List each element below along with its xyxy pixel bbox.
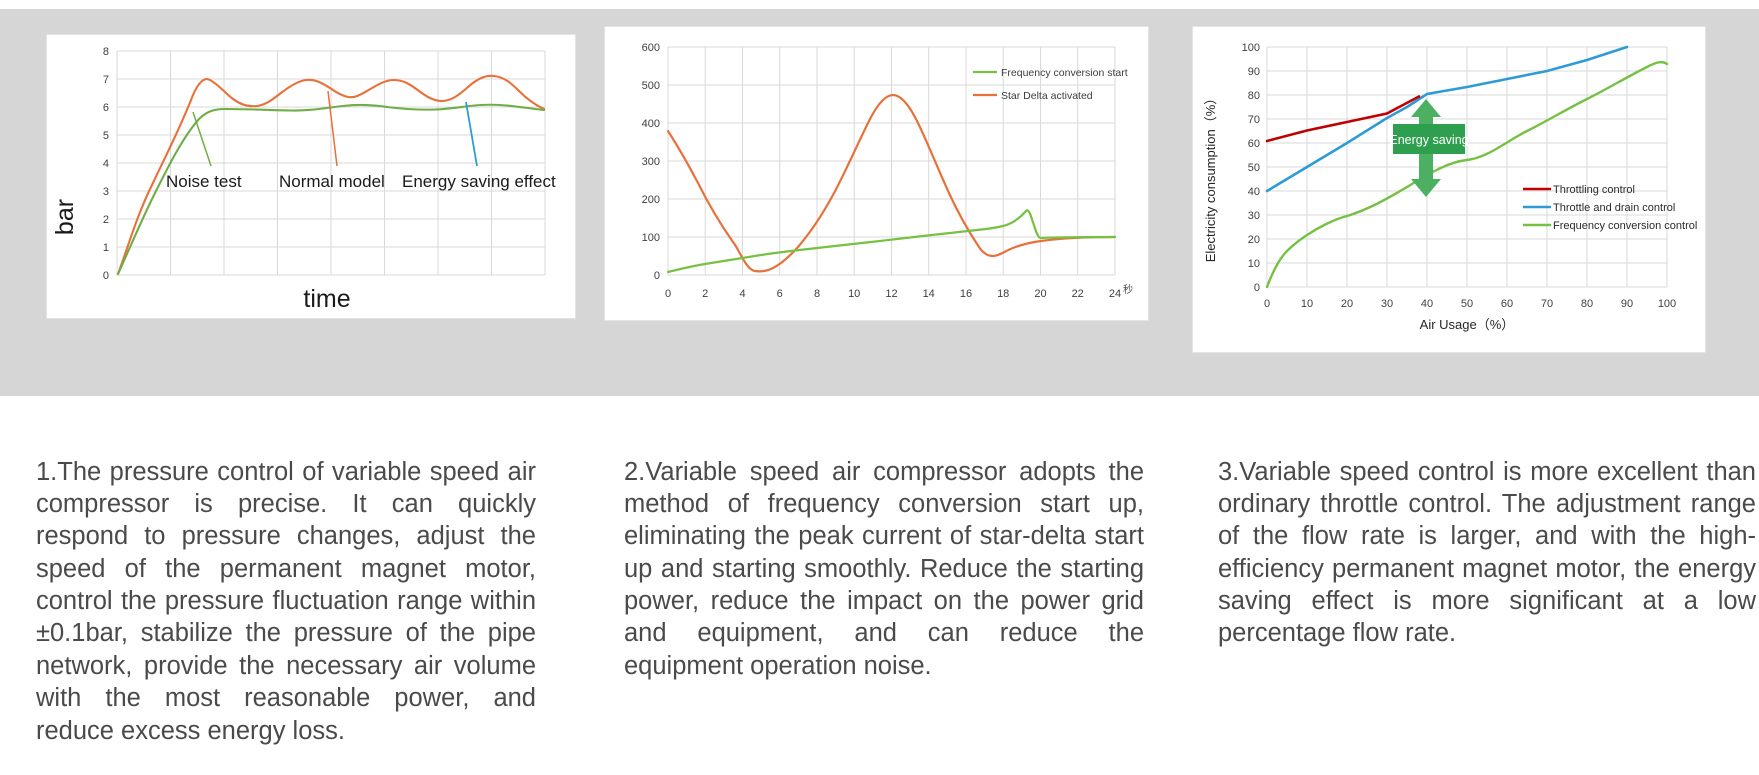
svg-text:4: 4	[103, 158, 109, 170]
svg-text:100: 100	[642, 232, 660, 244]
svg-text:6: 6	[777, 288, 783, 300]
page-root: 8 7 6 5 4 3 2 1 0 Nois	[0, 0, 1759, 775]
legend-label-frequency-conversion-control: Frequency conversion control	[1553, 220, 1697, 232]
legend-label-frequency-conversion-start: Frequency conversion start	[1001, 67, 1128, 79]
svg-text:24: 24	[1109, 288, 1121, 300]
svg-text:2: 2	[702, 288, 708, 300]
legend-label-throttling-control: Throttling control	[1553, 184, 1635, 196]
svg-text:2: 2	[103, 214, 109, 226]
y-axis-tick-labels: 600 500 400 300 200 100 0	[642, 42, 660, 282]
svg-text:90: 90	[1248, 66, 1260, 78]
leader-line-normal-model	[328, 91, 337, 166]
svg-text:4: 4	[739, 288, 745, 300]
svg-text:500: 500	[642, 80, 660, 92]
svg-text:200: 200	[642, 194, 660, 206]
svg-text:90: 90	[1621, 298, 1633, 310]
x-axis-title: Air Usage（%）	[1420, 317, 1515, 332]
svg-text:0: 0	[103, 270, 109, 282]
svg-text:60: 60	[1501, 298, 1513, 310]
annotation-energy-saving-effect: Energy saving effect	[402, 172, 556, 191]
leader-line-noise-test	[193, 112, 211, 166]
svg-text:30: 30	[1381, 298, 1393, 310]
svg-text:80: 80	[1581, 298, 1593, 310]
y-axis-title: bar	[51, 199, 79, 235]
svg-text:1: 1	[103, 242, 109, 254]
svg-text:50: 50	[1248, 162, 1260, 174]
startup-current-chart-card: 600 500 400 300 200 100 0 0 2 4 6 8 10 1…	[604, 26, 1149, 321]
startup-current-chart: 600 500 400 300 200 100 0 0 2 4 6 8 10 1…	[605, 27, 1148, 320]
y-axis-tick-labels: 8 7 6 5 4 3 2 1 0	[103, 46, 109, 282]
svg-text:70: 70	[1248, 114, 1260, 126]
leader-line-energy-saving-effect	[466, 102, 477, 166]
svg-text:20: 20	[1248, 234, 1260, 246]
svg-text:30: 30	[1248, 210, 1260, 222]
pressure-control-chart-card: 8 7 6 5 4 3 2 1 0 Nois	[46, 34, 576, 319]
pressure-control-chart: 8 7 6 5 4 3 2 1 0 Nois	[47, 35, 575, 318]
svg-text:10: 10	[848, 288, 860, 300]
paragraph-2: 2.Variable speed air compressor adopts t…	[624, 456, 1144, 683]
svg-text:20: 20	[1034, 288, 1046, 300]
svg-text:600: 600	[642, 42, 660, 54]
paragraph-3: 3.Variable speed control is more excelle…	[1218, 456, 1756, 650]
svg-text:5: 5	[103, 130, 109, 142]
svg-text:40: 40	[1248, 186, 1260, 198]
svg-text:0: 0	[1254, 282, 1260, 294]
legend-label-throttle-and-drain-control: Throttle and drain control	[1553, 202, 1675, 214]
svg-text:12: 12	[885, 288, 897, 300]
svg-text:14: 14	[923, 288, 935, 300]
svg-text:10: 10	[1301, 298, 1313, 310]
svg-text:7: 7	[103, 74, 109, 86]
charts-band: 8 7 6 5 4 3 2 1 0 Nois	[0, 9, 1759, 396]
svg-text:400: 400	[642, 118, 660, 130]
svg-text:16: 16	[960, 288, 972, 300]
energy-comparison-chart: 100 90 80 70 60 50 40 30 20 10 0 0 10 20…	[1193, 27, 1705, 352]
grid-lines	[117, 51, 545, 275]
svg-text:60: 60	[1248, 138, 1260, 150]
svg-text:40: 40	[1421, 298, 1433, 310]
description-columns: 1.The pressure control of variable speed…	[0, 430, 1759, 760]
svg-text:22: 22	[1072, 288, 1084, 300]
y-axis-title: Electricity consumption（%）	[1203, 92, 1218, 263]
svg-text:70: 70	[1541, 298, 1553, 310]
svg-text:18: 18	[997, 288, 1009, 300]
svg-text:8: 8	[814, 288, 820, 300]
svg-text:0: 0	[665, 288, 671, 300]
annotation-noise-test: Noise test	[166, 172, 242, 191]
y-axis-tick-labels: 100 90 80 70 60 50 40 30 20 10 0	[1242, 42, 1260, 294]
energy-saving-badge: Energy saving	[1389, 99, 1468, 197]
energy-saving-badge-label: Energy saving	[1389, 133, 1468, 147]
svg-text:300: 300	[642, 156, 660, 168]
svg-text:0: 0	[654, 270, 660, 282]
svg-text:8: 8	[103, 46, 109, 58]
svg-text:80: 80	[1248, 90, 1260, 102]
paragraph-1: 1.The pressure control of variable speed…	[36, 456, 536, 747]
annotation-normal-model: Normal model	[279, 172, 385, 191]
x-axis-title: time	[303, 285, 350, 313]
legend-label-star-delta-activated: Star Delta activated	[1001, 90, 1093, 102]
svg-text:50: 50	[1461, 298, 1473, 310]
svg-text:0: 0	[1264, 298, 1270, 310]
svg-text:100: 100	[1242, 42, 1260, 54]
svg-text:20: 20	[1341, 298, 1353, 310]
svg-text:100: 100	[1658, 298, 1676, 310]
energy-comparison-chart-card: 100 90 80 70 60 50 40 30 20 10 0 0 10 20…	[1192, 26, 1706, 353]
grid-lines	[1267, 47, 1667, 287]
svg-text:3: 3	[103, 186, 109, 198]
svg-text:10: 10	[1248, 258, 1260, 270]
x-axis-tick-labels: 0 2 4 6 8 10 12 14 16 18 20 22 24	[665, 288, 1121, 300]
x-axis-tick-labels: 0 10 20 30 40 50 60 70 80 90 100	[1264, 298, 1676, 310]
x-axis-unit-label: 秒	[1123, 283, 1133, 296]
svg-text:6: 6	[103, 102, 109, 114]
